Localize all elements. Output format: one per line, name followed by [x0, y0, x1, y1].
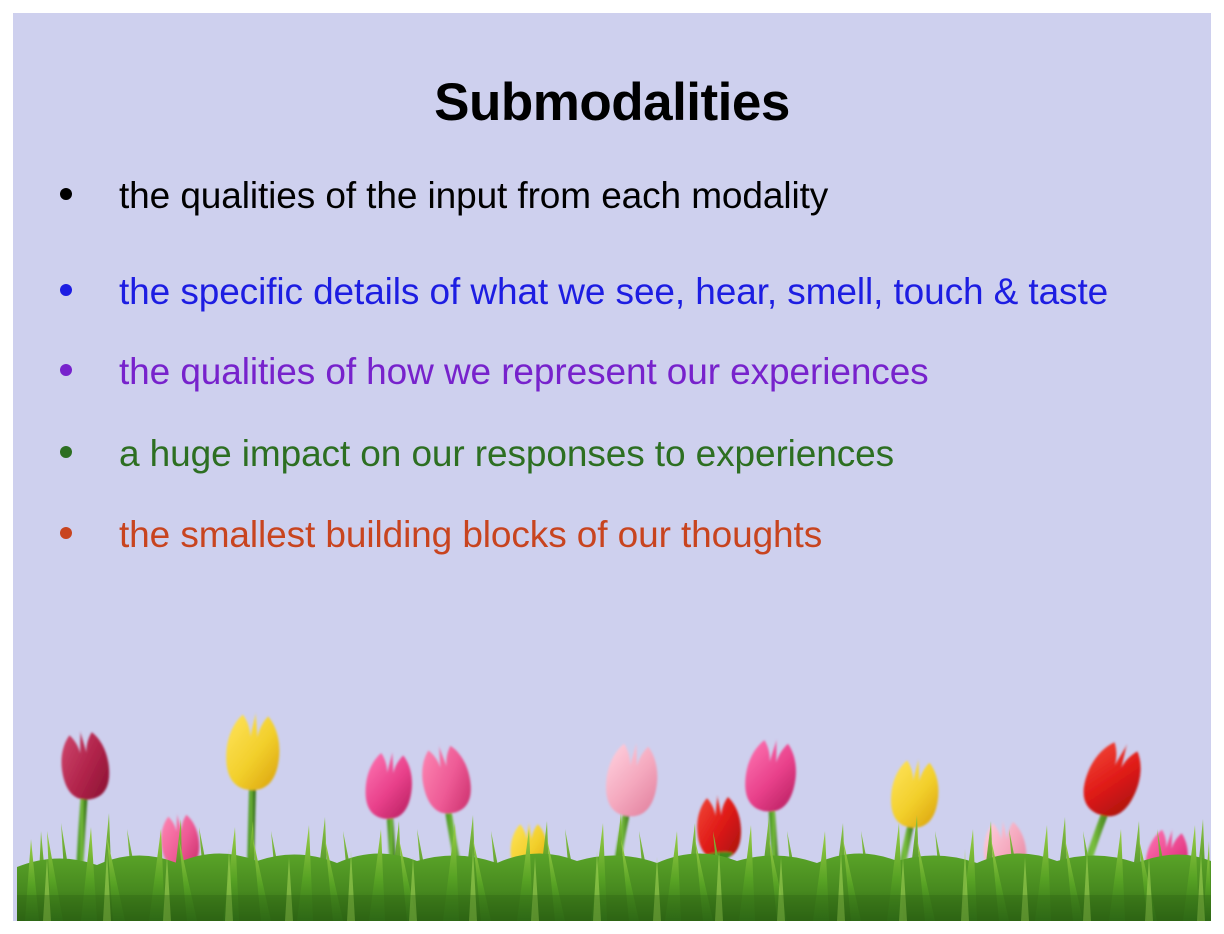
list-item: a huge impact on our responses to experi… [13, 426, 1211, 482]
list-item: the qualities of the input from each mod… [13, 168, 1211, 224]
round-bullet-icon [60, 364, 72, 376]
list-item: the smallest building blocks of our thou… [13, 507, 1211, 563]
round-bullet-icon [60, 284, 72, 296]
list-item: the qualities of how we represent our ex… [13, 344, 1211, 400]
grass-and-tulips-border [17, 681, 1211, 921]
list-item-label: the qualities of the input from each mod… [119, 168, 1119, 224]
bullet-list: the qualities of the input from each mod… [13, 168, 1211, 585]
slide-canvas: Submodalities the qualities of the input… [13, 13, 1211, 921]
round-bullet-icon [60, 446, 72, 458]
round-bullet-icon [60, 527, 72, 539]
list-item-label: the smallest building blocks of our thou… [119, 507, 1119, 563]
page-title: Submodalities [13, 75, 1211, 131]
grass-border-illustration [17, 681, 1211, 921]
list-item-label: the qualities of how we represent our ex… [119, 344, 1119, 400]
list-item-label: the specific details of what we see, hea… [119, 264, 1119, 320]
round-bullet-icon [60, 188, 72, 200]
list-item-label: a huge impact on our responses to experi… [119, 426, 1119, 482]
list-item: the specific details of what we see, hea… [13, 264, 1211, 320]
